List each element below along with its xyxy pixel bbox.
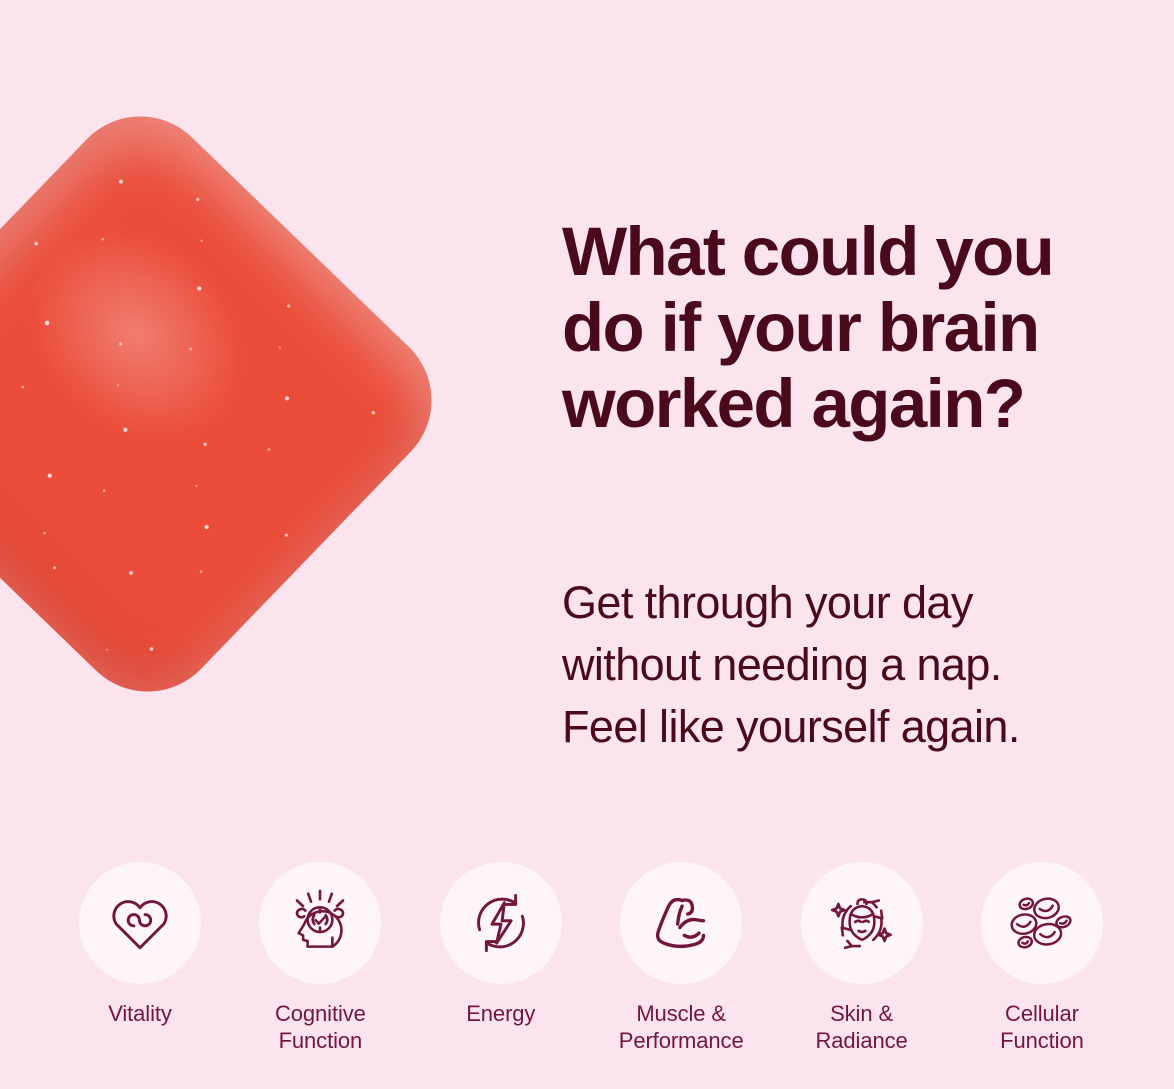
gummy-candy-graphic (0, 86, 462, 722)
page-title: What could you do if your brain worked a… (562, 214, 1132, 442)
benefit-item-skin-radiance: Skin & Radiance (782, 862, 942, 1054)
product-image (0, 84, 464, 724)
benefit-label: Cellular Function (1000, 1000, 1084, 1054)
benefit-icon-wrap (981, 862, 1103, 984)
benefit-label: Cognitive Function (275, 1000, 366, 1054)
flexed-bicep-icon (645, 887, 717, 959)
benefit-label: Energy (466, 1000, 535, 1027)
benefit-icon-wrap (620, 862, 742, 984)
benefits-row: Vitality Cognitive Function (60, 862, 1122, 1054)
benefit-icon-wrap (79, 862, 201, 984)
heart-infinity-icon (104, 887, 176, 959)
benefit-item-cognitive-function: Cognitive Function (240, 862, 400, 1054)
benefit-item-energy: Energy (421, 862, 581, 1027)
face-sparkle-renew-icon (826, 887, 898, 959)
promo-banner: What could you do if your brain worked a… (0, 0, 1174, 1089)
benefit-label: Vitality (108, 1000, 172, 1027)
benefit-icon-wrap (440, 862, 562, 984)
head-brain-check-icon (284, 887, 356, 959)
subheadline: Get through your day without needing a n… (562, 572, 1122, 758)
benefit-icon-wrap (801, 862, 923, 984)
lightning-refresh-icon (465, 887, 537, 959)
benefit-icon-wrap (259, 862, 381, 984)
benefit-item-muscle-performance: Muscle & Performance (601, 862, 761, 1054)
benefit-label: Skin & Radiance (815, 1000, 907, 1054)
blood-cells-icon (1006, 887, 1078, 959)
benefit-item-cellular-function: Cellular Function (962, 862, 1122, 1054)
benefit-label: Muscle & Performance (619, 1000, 744, 1054)
benefit-item-vitality: Vitality (60, 862, 220, 1027)
